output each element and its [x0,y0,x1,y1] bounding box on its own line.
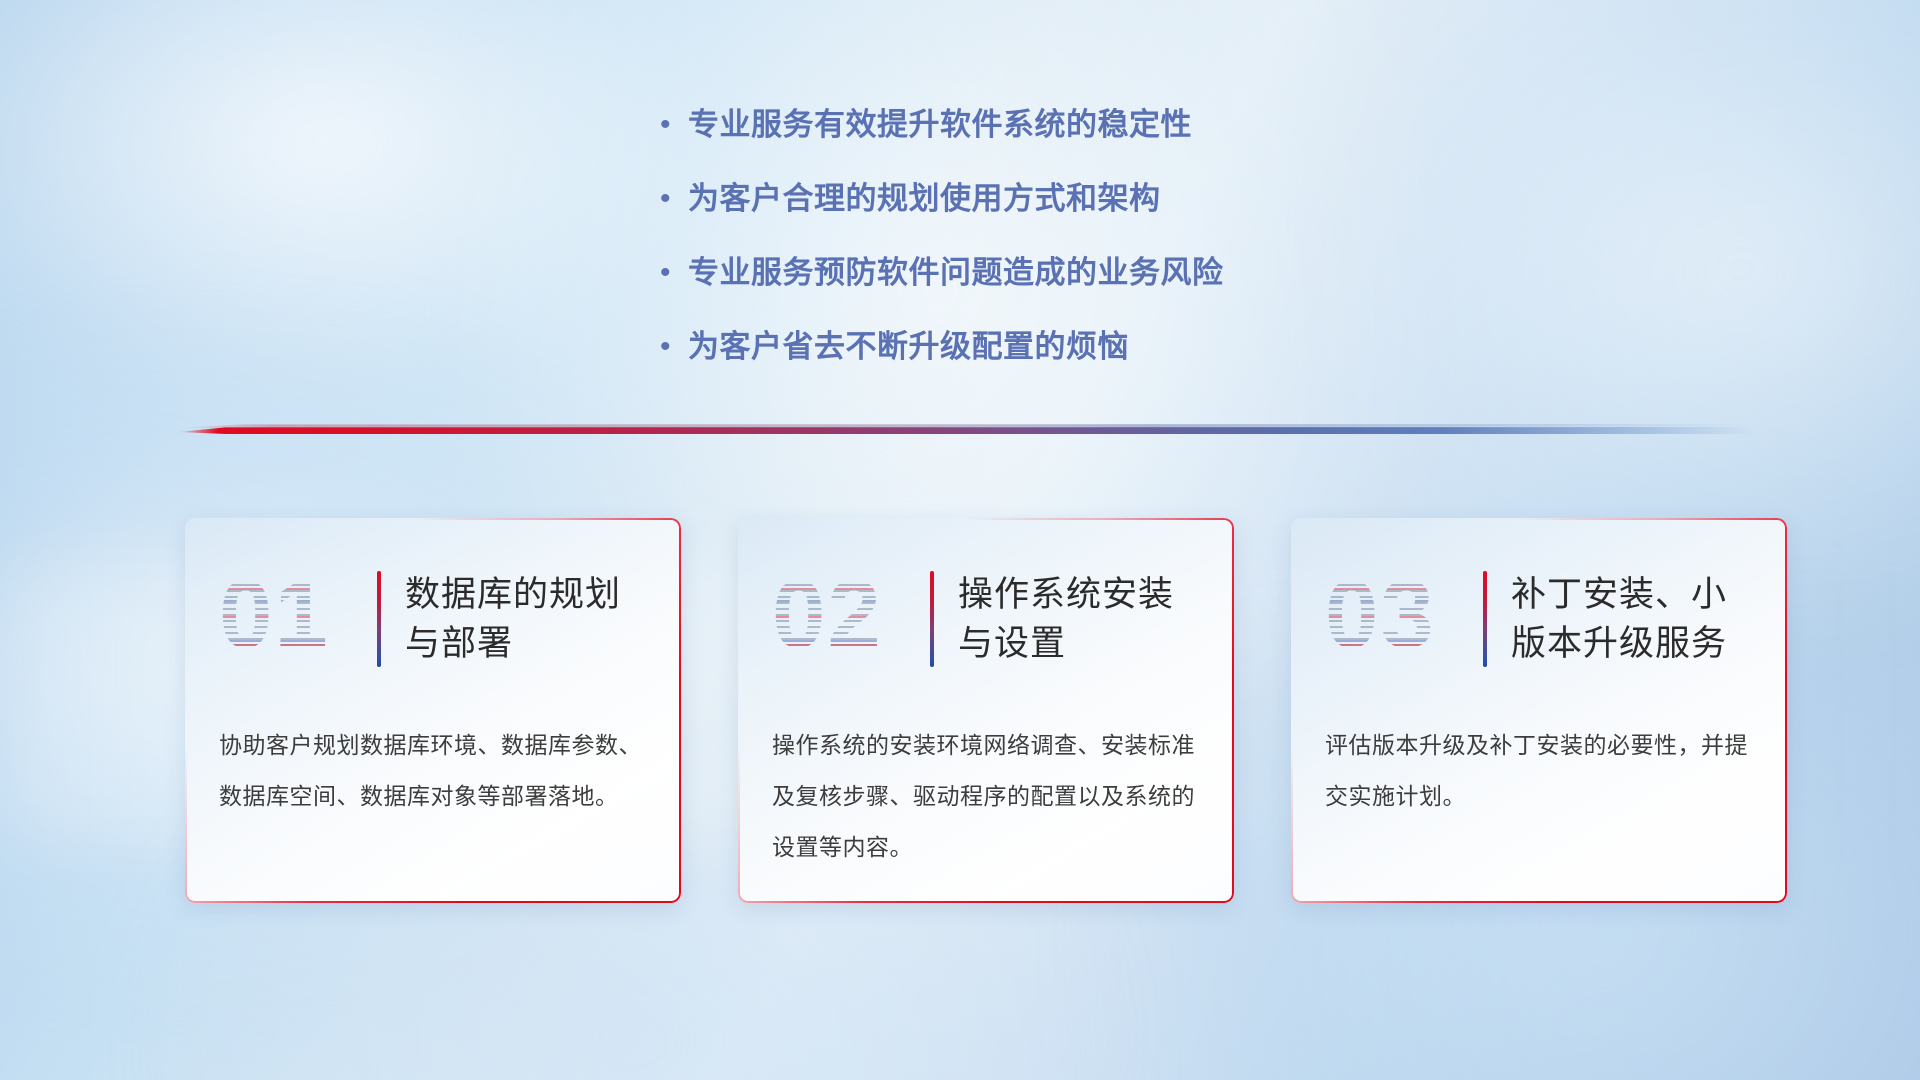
bullet-dot-icon: • [660,178,688,220]
list-item: • 为客户合理的规划使用方式和架构 [660,178,1620,220]
card-number-glyph-blue: 01 [219,560,330,670]
benefits-bullet-list: • 专业服务有效提升软件系统的稳定性 • 为客户合理的规划使用方式和架构 • 专… [660,104,1620,400]
card-divider-bar [377,571,381,667]
list-item: • 为客户省去不断升级配置的烦恼 [660,326,1620,368]
card-title: 补丁安装、小版本升级服务 [1511,570,1753,668]
card-header: 01 01 01 数据库的规划与部署 [219,554,647,684]
slide-canvas: • 专业服务有效提升软件系统的稳定性 • 为客户合理的规划使用方式和架构 • 专… [0,0,1920,1080]
bullet-text: 为客户合理的规划使用方式和架构 [688,178,1161,220]
card-number-glyph-blue: 02 [772,560,883,670]
card-divider-bar [1483,571,1487,667]
list-item: • 专业服务有效提升软件系统的稳定性 [660,104,1620,146]
bullet-dot-icon: • [660,104,688,146]
card-divider-bar [930,571,934,667]
bullet-dot-icon: • [660,252,688,294]
card-header: 02 02 02 操作系统安装与设置 [772,554,1200,684]
bullet-text: 专业服务有效提升软件系统的稳定性 [688,104,1192,146]
bullet-text: 专业服务预防软件问题造成的业务风险 [688,252,1224,294]
card-title: 数据库的规划与部署 [405,570,647,668]
service-card[interactable]: 02 02 02 操作系统安装与设置 操作系统的安装环境网络调查、安装标准及复核… [738,518,1234,903]
card-header: 03 03 03 补丁安装、小版本升级服务 [1325,554,1753,684]
card-number: 03 03 03 [1325,564,1465,674]
card-number: 01 01 01 [219,564,359,674]
card-body-text: 评估版本升级及补丁安装的必要性，并提交实施计划。 [1325,720,1753,822]
service-card[interactable]: 03 03 03 补丁安装、小版本升级服务 评估版本升级及补丁安装的必要性，并提… [1291,518,1787,903]
card-number-glyph-blue: 03 [1325,560,1436,670]
bullet-text: 为客户省去不断升级配置的烦恼 [688,326,1129,368]
card-title: 操作系统安装与设置 [958,570,1200,668]
card-number: 02 02 02 [772,564,912,674]
divider-bar [178,427,1753,434]
service-card[interactable]: 01 01 01 数据库的规划与部署 协助客户规划数据库环境、数据库参数、数据库… [185,518,681,903]
list-item: • 专业服务预防软件问题造成的业务风险 [660,252,1620,294]
section-divider [178,421,1753,437]
bullet-dot-icon: • [660,326,688,368]
card-body-text: 操作系统的安装环境网络调查、安装标准及复核步骤、驱动程序的配置以及系统的设置等内… [772,720,1200,873]
service-card-row: 01 01 01 数据库的规划与部署 协助客户规划数据库环境、数据库参数、数据库… [185,518,1787,903]
card-body-text: 协助客户规划数据库环境、数据库参数、数据库空间、数据库对象等部署落地。 [219,720,647,822]
